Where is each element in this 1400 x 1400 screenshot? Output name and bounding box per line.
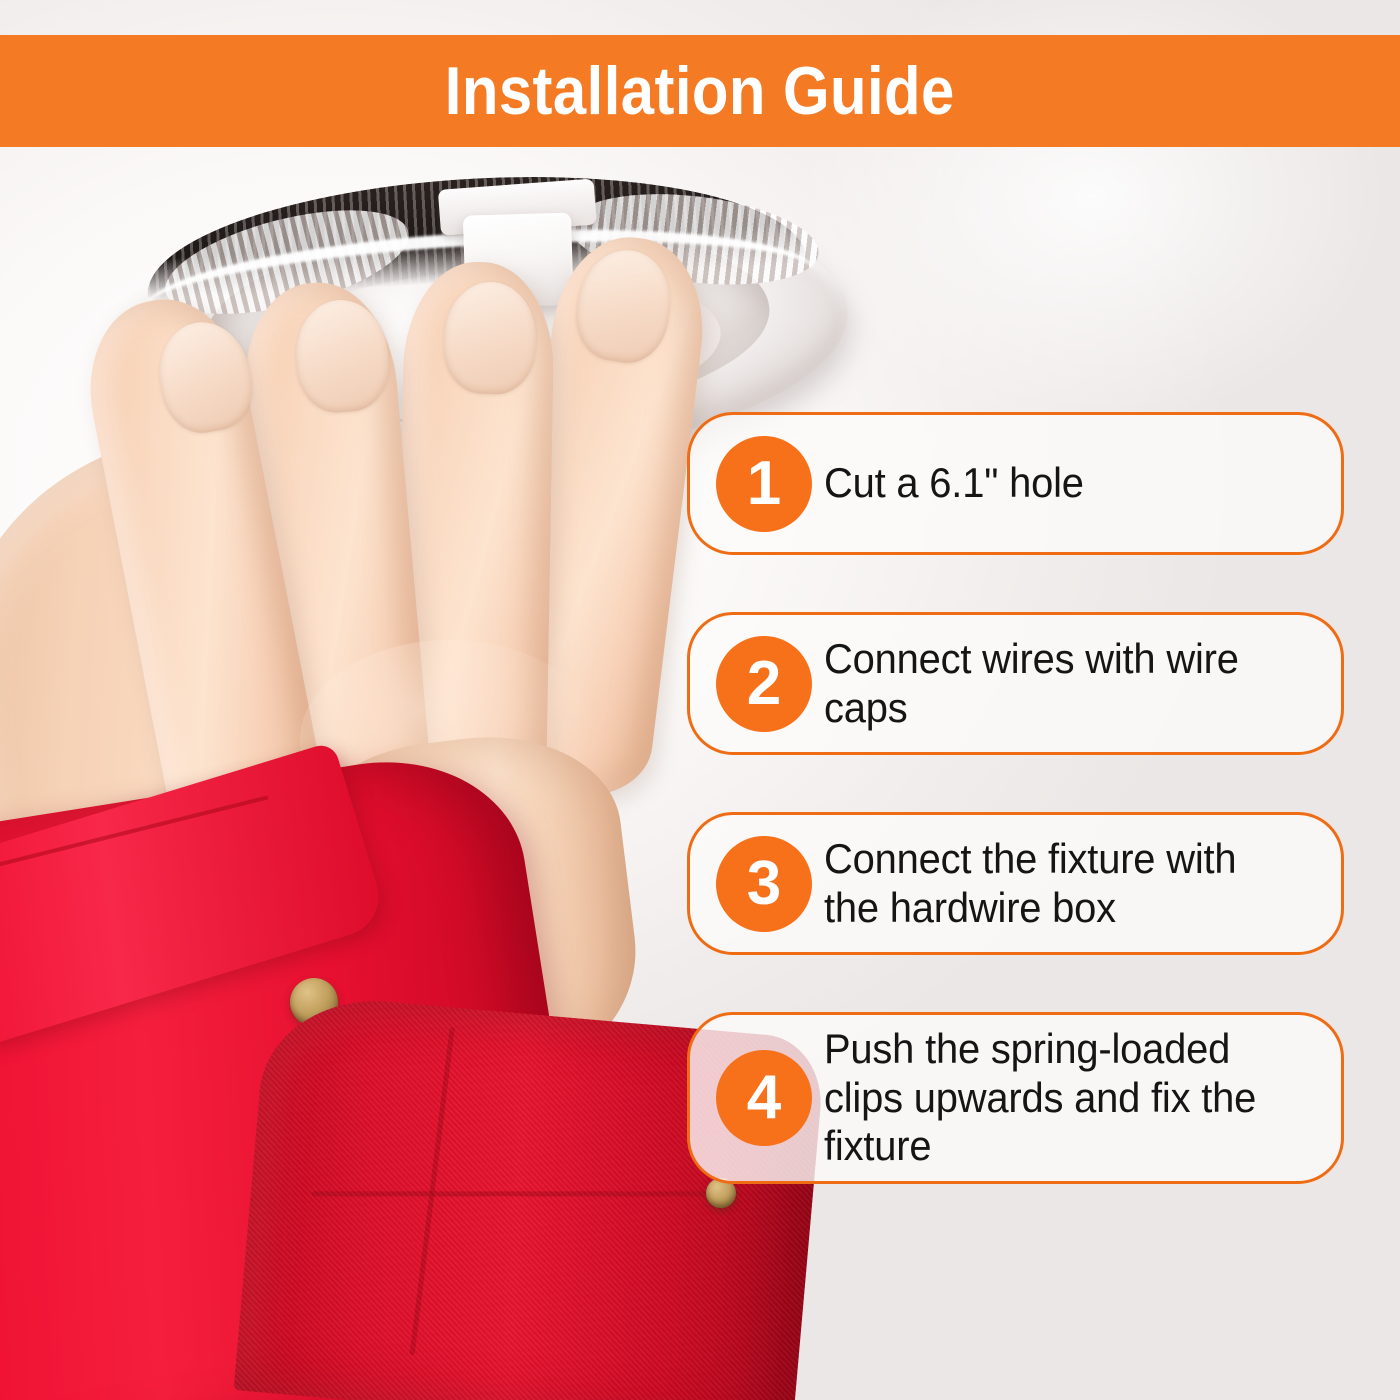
step-number-badge-3: 3 [716,836,812,932]
installation-guide-page: Installation Guide 1 Cut a 6.1" hole 2 C… [0,0,1400,1400]
installation-steps-list: 1 Cut a 6.1" hole 2 Connect wires with w… [687,412,1344,1184]
cuff-seam-vertical [410,1027,455,1355]
step-card-2[interactable]: 2 Connect wires with wire caps [687,612,1344,755]
step-number-badge-2: 2 [716,636,812,732]
step-label-4: Push the spring-loaded clips upwards and… [824,1025,1292,1171]
step-label-1: Cut a 6.1" hole [824,459,1292,508]
step-number-badge-4: 4 [716,1050,812,1146]
step-label-2: Connect wires with wire caps [824,635,1292,732]
step-card-3[interactable]: 3 Connect the fixture with the hardwire … [687,812,1344,955]
step-label-3: Connect the fixture with the hardwire bo… [824,835,1292,932]
cuff-seam-horizontal [312,1191,712,1196]
step-number-badge-1: 1 [716,436,812,532]
step-card-4[interactable]: 4 Push the spring-loaded clips upwards a… [687,1012,1344,1184]
step-card-1[interactable]: 1 Cut a 6.1" hole [687,412,1344,555]
header-banner: Installation Guide [0,35,1400,147]
page-title: Installation Guide [445,57,955,125]
